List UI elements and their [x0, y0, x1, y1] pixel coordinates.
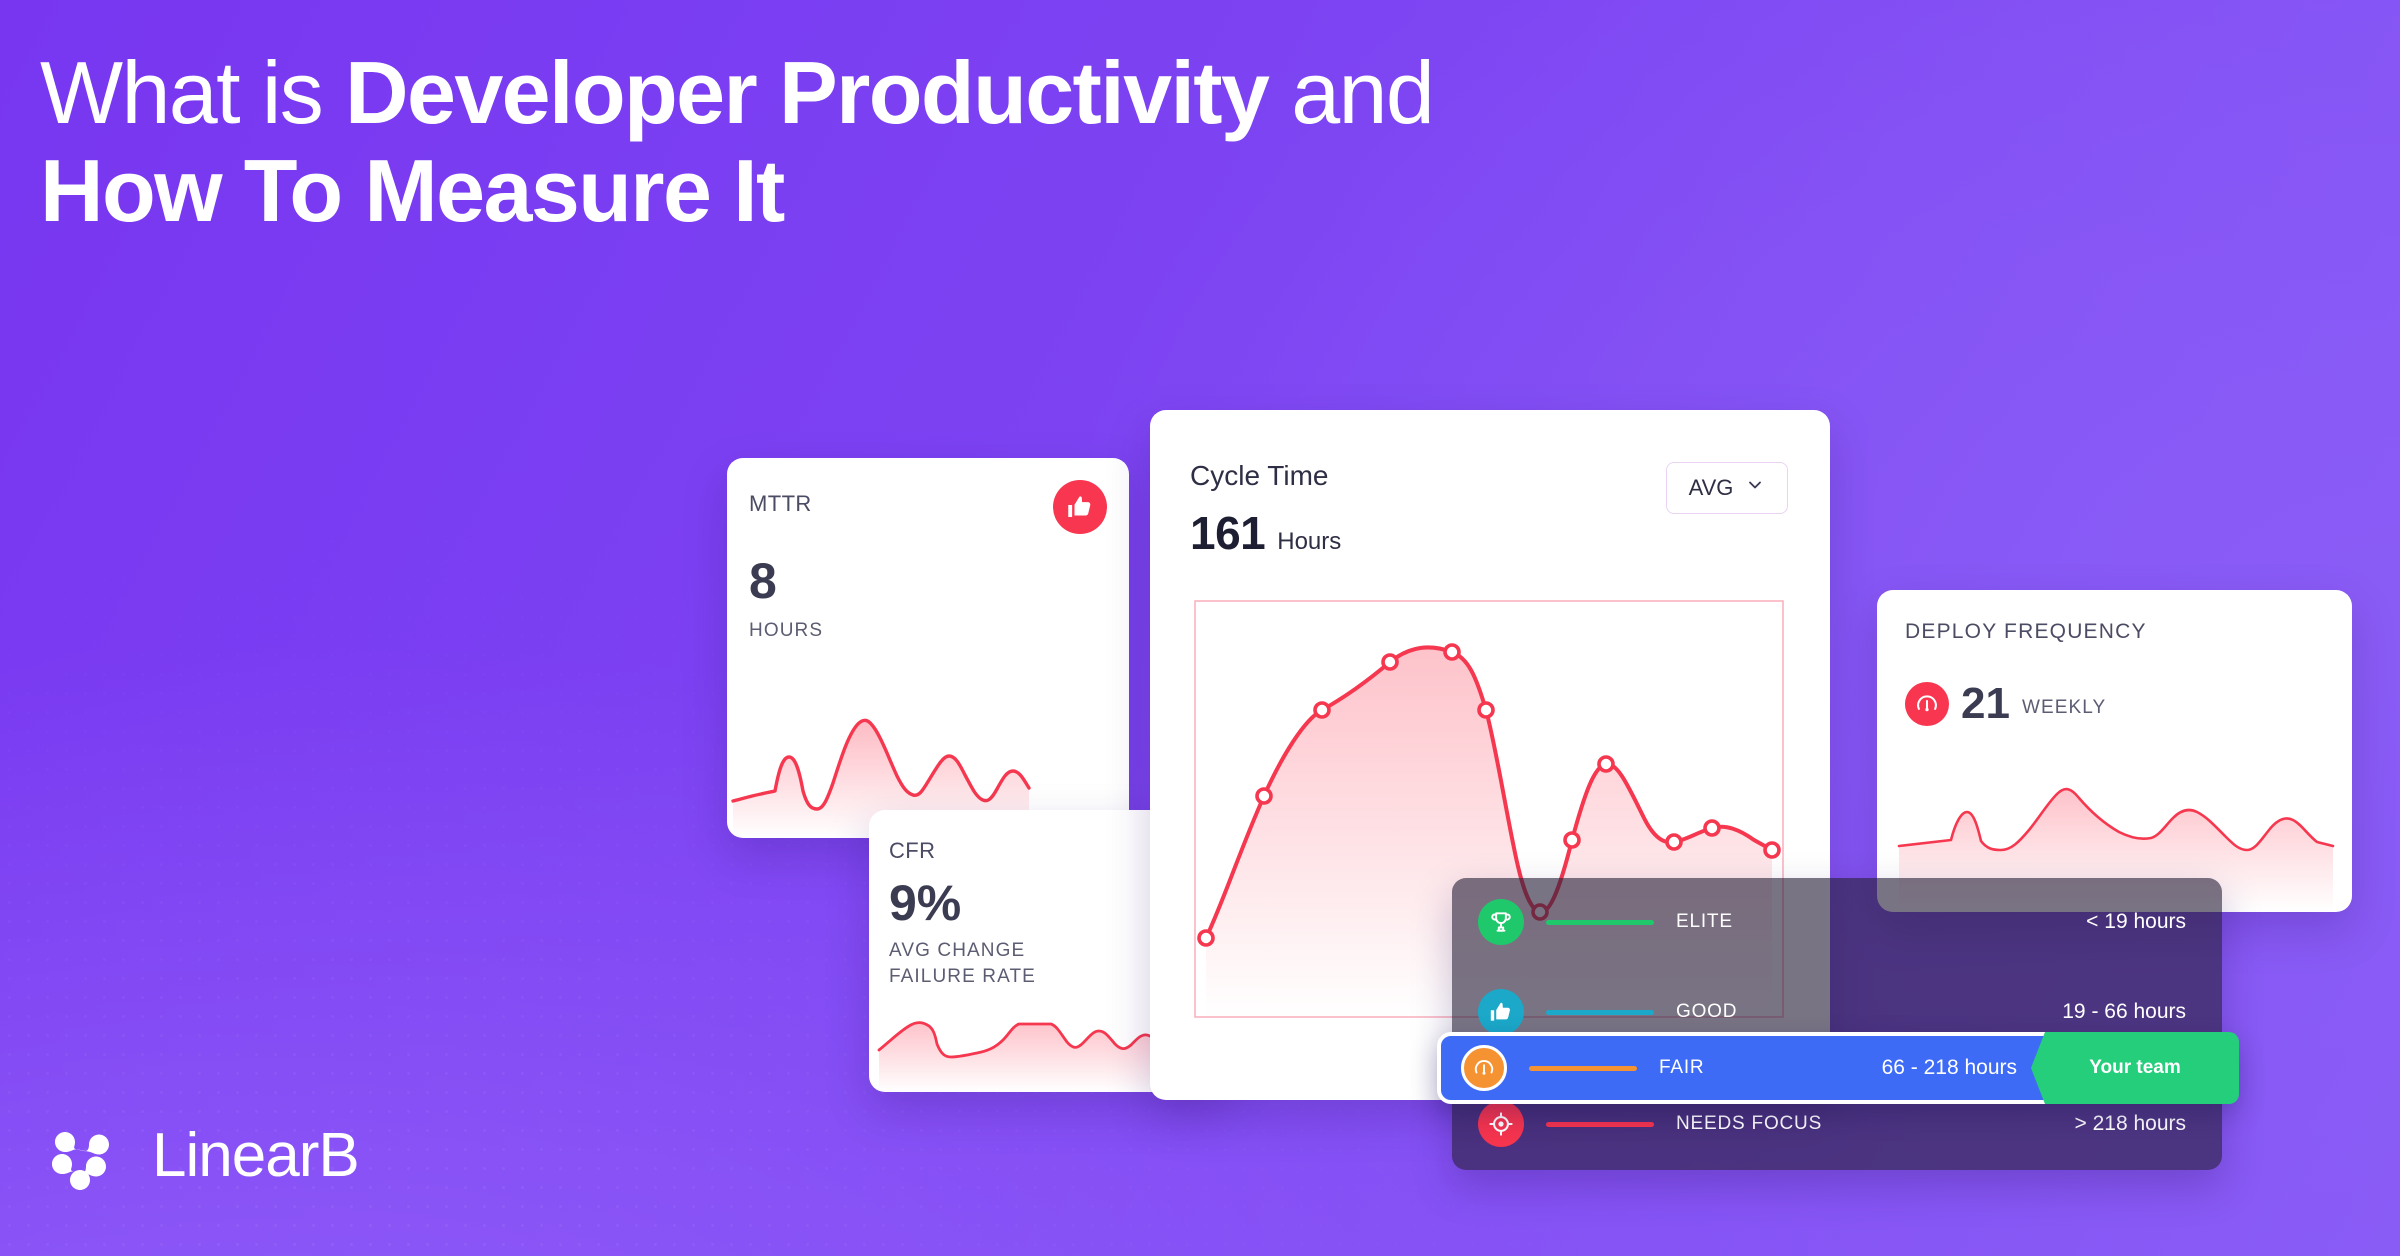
legend-dash-elite: [1546, 920, 1654, 925]
deploy-frequency-card[interactable]: DEPLOY FREQUENCY 21 WEEKLY: [1877, 590, 2352, 912]
cfr-value: 9%: [889, 878, 961, 928]
deploy-frequency-value-group: 21 WEEKLY: [1905, 682, 2106, 726]
legend-dash-good: [1546, 1010, 1654, 1015]
chevron-down-icon: [1745, 475, 1765, 501]
deploy-frequency-label: DEPLOY FREQUENCY: [1905, 620, 2147, 644]
legend-name-fair: FAIR: [1659, 1057, 1704, 1079]
deploy-frequency-value: 21: [1961, 682, 2010, 726]
cycle-time-value: 161: [1190, 506, 1265, 560]
legend-range-elite: < 19 hours: [2086, 910, 2186, 934]
legend-name-good: GOOD: [1676, 1001, 1737, 1023]
aggregation-select[interactable]: AVG: [1666, 462, 1788, 514]
legend-range-good: 19 - 66 hours: [2062, 1000, 2186, 1024]
linearb-logo: LinearB: [50, 1118, 359, 1194]
gauge-icon: [1461, 1045, 1507, 1091]
mttr-card[interactable]: MTTR 8 HOURS: [727, 458, 1129, 838]
legend-name-needs-focus: NEEDS FOCUS: [1676, 1113, 1822, 1135]
page-title: What is Developer Productivity and How T…: [40, 44, 1440, 240]
target-icon: [1478, 1101, 1524, 1147]
linearb-wordmark: LinearB: [152, 1125, 359, 1187]
legend-name-elite: ELITE: [1676, 911, 1733, 933]
your-team-badge: Your team: [2031, 1032, 2239, 1104]
cycle-time-value-group: 161 Hours: [1190, 506, 1341, 560]
headline-line1-bold: Developer Productivity: [345, 43, 1268, 142]
headline-line1-plain-b: and: [1268, 43, 1433, 142]
deploy-frequency-unit: WEEKLY: [2022, 697, 2106, 726]
legend-dash-fair: [1529, 1066, 1637, 1071]
legend-row-elite[interactable]: ELITE < 19 hours: [1452, 888, 2222, 956]
mttr-sparkline: [727, 628, 1129, 838]
legend-dash-needs-focus: [1546, 1122, 1654, 1127]
cfr-label: CFR: [889, 838, 935, 864]
legend-row-fair-selected[interactable]: FAIR 66 - 218 hours Your team: [1437, 1032, 2239, 1104]
mttr-label: MTTR: [749, 491, 812, 517]
headline-line2-bold: How To Measure It: [40, 141, 784, 240]
dora-rating-legend: ELITE < 19 hours GOOD 19 - 66 hours NEED…: [1452, 878, 2222, 1170]
legend-range-needs-focus: > 218 hours: [2074, 1112, 2186, 1136]
gauge-icon: [1905, 682, 1949, 726]
mttr-value: 8: [749, 556, 777, 606]
trophy-icon: [1478, 899, 1524, 945]
headline-line1-plain-a: What is: [40, 43, 345, 142]
thumbs-up-icon: [1478, 989, 1524, 1035]
linearb-nodes-icon: [50, 1118, 126, 1194]
thumbs-up-icon: [1053, 480, 1107, 534]
cycle-time-unit: Hours: [1277, 528, 1341, 556]
cycle-time-title: Cycle Time: [1190, 460, 1328, 492]
legend-range-fair: 66 - 218 hours: [1882, 1056, 2017, 1080]
aggregation-select-value: AVG: [1689, 475, 1734, 501]
